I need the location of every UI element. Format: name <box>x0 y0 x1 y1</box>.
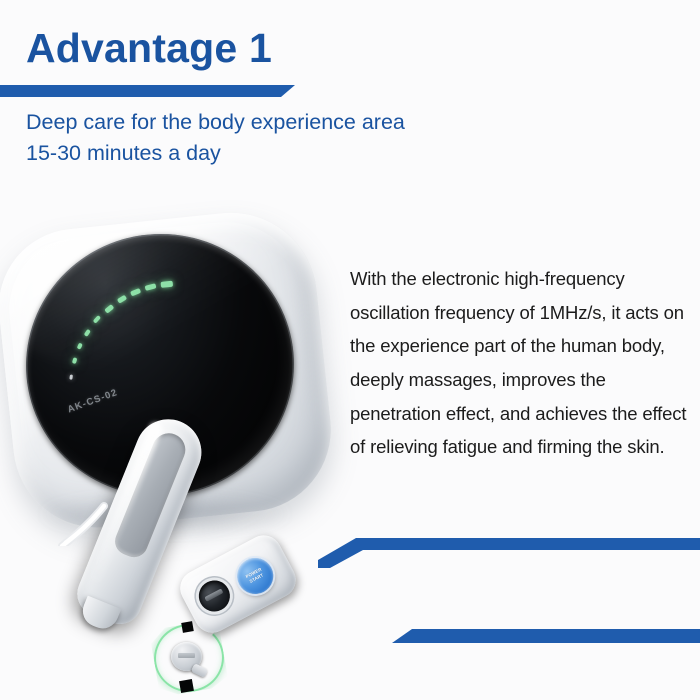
power-button-label: POWER START <box>245 566 266 585</box>
decor-bar-lower <box>392 629 700 643</box>
mode-knob-gap-bottom <box>179 679 194 693</box>
mode-knob[interactable] <box>152 624 224 692</box>
control-bar: POWER START <box>174 529 302 639</box>
probe-socket[interactable] <box>193 575 235 617</box>
decor-bar-upper <box>318 538 700 568</box>
subtitle: Deep care for the body experience area 1… <box>26 107 546 168</box>
description-paragraph: With the electronic high-frequency oscil… <box>350 262 690 464</box>
page-title: Advantage 1 <box>26 28 272 69</box>
mode-knob-gap-top <box>181 621 194 633</box>
banner-canvas: Advantage 1 Deep care for the body exper… <box>0 0 700 700</box>
probe-tip <box>78 596 121 634</box>
power-start-button[interactable]: POWER START <box>231 552 280 601</box>
title-underline-bar <box>0 85 295 97</box>
product-image: AK-CS-02 POWER START <box>0 196 345 546</box>
